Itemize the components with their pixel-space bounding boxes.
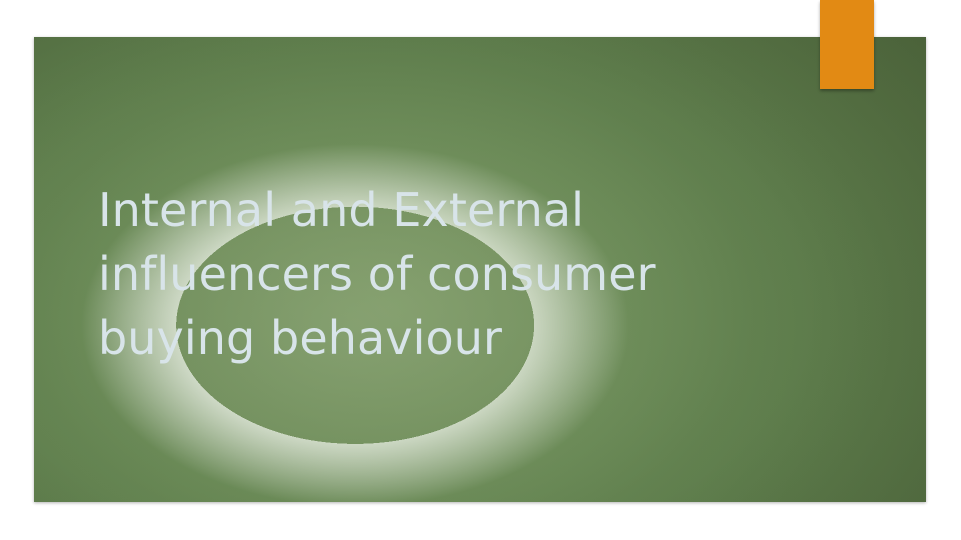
slide-title-line-2: influencers of consumer: [98, 242, 798, 306]
slide-root: Internal and External influencers of con…: [0, 0, 961, 540]
orange-accent-bar: [820, 0, 874, 89]
slide-title: Internal and External influencers of con…: [98, 178, 798, 370]
slide-title-line-1: Internal and External: [98, 178, 798, 242]
slide-title-line-3: buying behaviour: [98, 306, 798, 370]
